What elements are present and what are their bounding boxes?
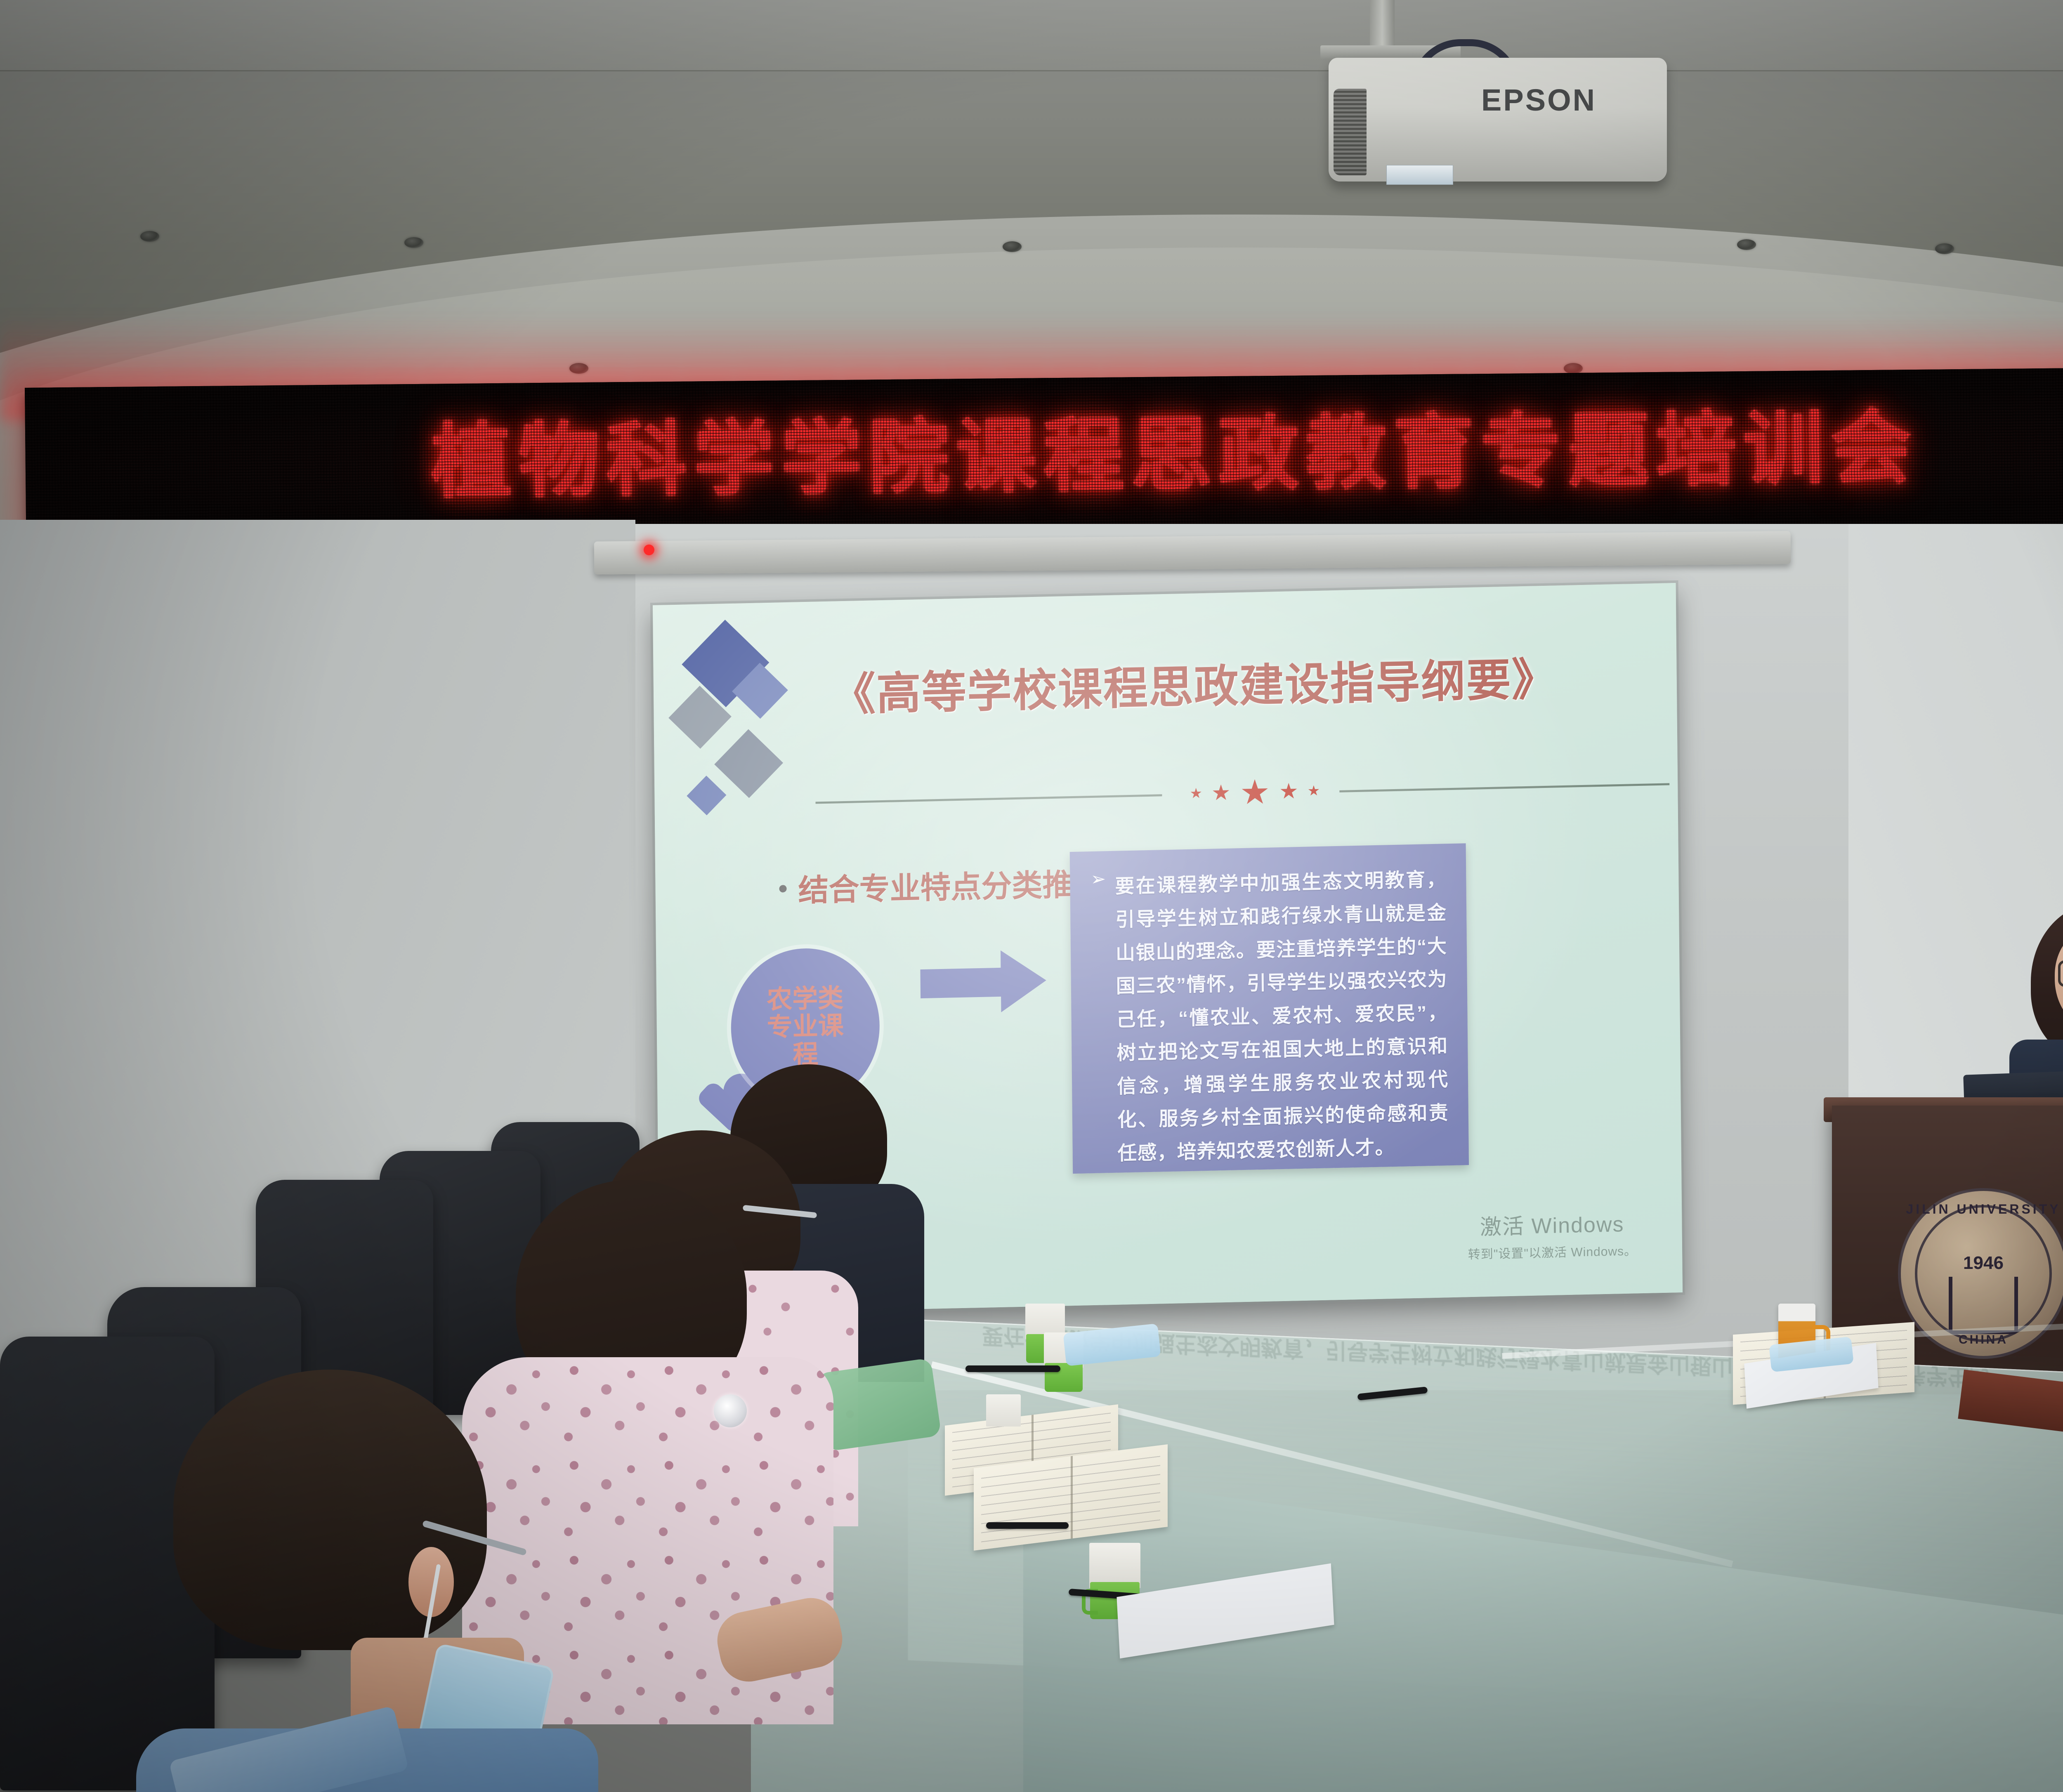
slide-title: 《高等学校课程思政建设指导纲要》 [831, 644, 1532, 724]
downlight-icon [140, 231, 159, 242]
pen[interactable] [986, 1522, 1069, 1529]
eyeglasses-icon [2058, 960, 2063, 983]
downlight-icon [1003, 241, 1022, 252]
attendee-foreground-masked [136, 1370, 574, 1792]
downlight-icon [1564, 363, 1583, 374]
windows-activation-watermark: 激活 Windows 转到"设置"以激活 Windows。 [1468, 1206, 1637, 1262]
decor-diamond-icon [687, 776, 726, 815]
magnifier-line: 专业课 [767, 1013, 844, 1041]
star-icon: ★ [1190, 785, 1202, 802]
led-banner-text: 植物科学学院课程思政教育专题培训会 [431, 408, 1919, 503]
magnifier-line: 农学类 [767, 985, 844, 1013]
projector-sticker [1386, 165, 1453, 185]
decor-diamond-icon [714, 729, 783, 798]
projector-body [1329, 58, 1667, 182]
star-icon: ★ [1211, 780, 1231, 806]
watermark-line-1: 激活 Windows [1468, 1206, 1637, 1241]
paper-cup [986, 1394, 1021, 1427]
screen-status-led-icon [644, 545, 654, 555]
right-arrow-icon [920, 950, 1044, 1014]
slide-textbox: ➢ 要在课程教学中加强生态文明教育，引导学生树立和践行绿水青山就是金山银山的理念… [1070, 843, 1469, 1174]
conference-room-photo: EPSON 植物科学学院课程思政教育专题培训会 《高等学校课程思政建设指导纲要》… [0, 0, 2063, 1792]
slide-star-ornament: ★ ★ ★ ★ ★ [1172, 772, 1338, 813]
slide-divider-left [816, 794, 1162, 804]
green-bag[interactable] [816, 1358, 942, 1451]
downlight-icon [569, 363, 588, 374]
downlight-icon [1935, 243, 1954, 254]
led-banner-display: 植物科学学院课程思政教育专题培训会 [25, 366, 2063, 545]
downlight-icon [404, 237, 423, 248]
watermark-line-2: 转到"设置"以激活 Windows。 [1468, 1240, 1637, 1262]
projector-brand-label: EPSON [1481, 83, 1596, 118]
downlight-icon [1737, 239, 1756, 250]
slide-divider-right [1339, 783, 1669, 792]
slide-textbox-body: 要在课程教学中加强生态文明教育，引导学生树立和践行绿水青山就是金山银山的理念。要… [1115, 863, 1449, 1156]
led-scrolling-banner: 植物科学学院课程思政教育专题培训会 [25, 366, 2063, 545]
bullet-dot-icon [779, 885, 786, 892]
projector-vent [1334, 89, 1367, 175]
textbox-marker-icon: ➢ [1091, 870, 1109, 1157]
pen[interactable] [965, 1365, 1060, 1372]
star-icon: ★ [1308, 783, 1320, 799]
star-icon: ★ [1239, 772, 1270, 812]
star-icon: ★ [1279, 779, 1298, 804]
brooch-icon [714, 1394, 747, 1427]
seal-emblem-icon [1949, 1277, 2018, 1334]
ceiling-top-band [0, 0, 2063, 71]
